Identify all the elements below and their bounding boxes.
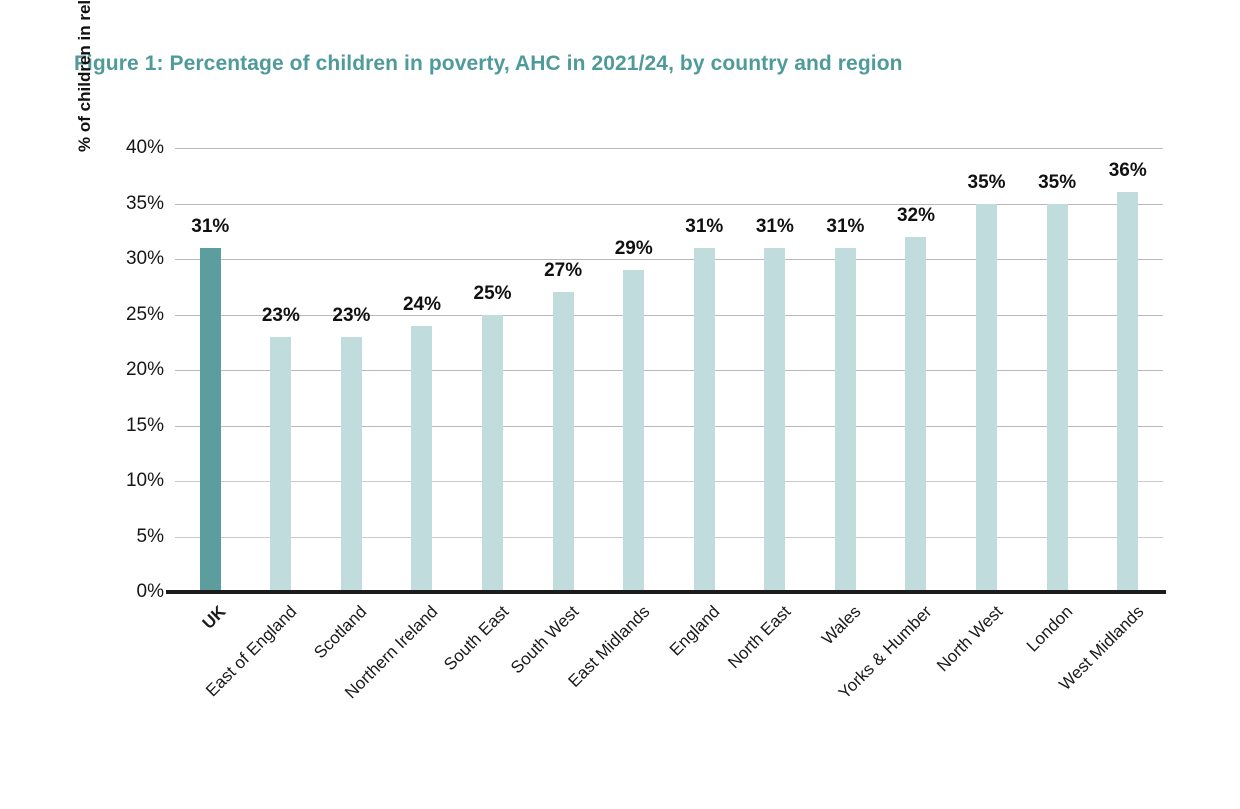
x-axis-tick-label-slot: East of England xyxy=(246,596,317,756)
y-axis-tick-label: 0% xyxy=(104,582,164,601)
y-axis-tick-labels: 40%35%30%25%20%15%10%5%0% xyxy=(66,0,164,809)
chart-title: Figure 1: Percentage of children in pove… xyxy=(74,52,903,76)
x-axis-tick-labels: UKEast of EnglandScotlandNorthern Irelan… xyxy=(175,596,1163,756)
bar-value-label: 23% xyxy=(316,305,387,327)
bar-item[interactable]: 24% xyxy=(387,148,458,592)
x-axis-tick-label-slot: West Midlands xyxy=(1092,596,1163,756)
bar[interactable] xyxy=(411,326,432,592)
bar-item[interactable]: 35% xyxy=(1022,148,1093,592)
bar-item[interactable]: 31% xyxy=(669,148,740,592)
bar-value-label: 31% xyxy=(669,216,740,238)
bar-item[interactable]: 36% xyxy=(1092,148,1163,592)
bar[interactable] xyxy=(905,237,926,592)
bar-value-label: 35% xyxy=(951,172,1022,194)
bar-item[interactable]: 31% xyxy=(810,148,881,592)
bar-item[interactable]: 27% xyxy=(528,148,599,592)
x-axis-tick-label-slot: North West xyxy=(951,596,1022,756)
x-axis-tick-label-slot: England xyxy=(669,596,740,756)
x-axis-tick-label: England xyxy=(666,602,724,660)
bar-item[interactable]: 31% xyxy=(175,148,246,592)
y-axis-tick-label: 25% xyxy=(104,305,164,324)
bar[interactable] xyxy=(1117,192,1138,592)
x-axis-tick-label: Scotland xyxy=(311,602,372,663)
x-axis-tick-label-slot: Northern Ireland xyxy=(387,596,458,756)
bar-value-label: 27% xyxy=(528,260,599,282)
bar-value-label: 35% xyxy=(1022,172,1093,194)
bar[interactable] xyxy=(270,337,291,592)
x-axis-tick-label-slot: Yorks & Humber xyxy=(881,596,952,756)
figure-container: Figure 1: Percentage of children in pove… xyxy=(0,0,1240,809)
bar[interactable] xyxy=(1047,204,1068,593)
bar-item[interactable]: 32% xyxy=(881,148,952,592)
x-axis-tick-label: Wales xyxy=(818,602,865,649)
y-axis-tick-label: 20% xyxy=(104,360,164,379)
bar-item[interactable]: 29% xyxy=(598,148,669,592)
x-axis-tick-label-slot: North East xyxy=(740,596,811,756)
bar-value-label: 31% xyxy=(175,216,246,238)
x-axis-tick-label: London xyxy=(1023,602,1077,656)
y-axis-tick-label: 10% xyxy=(104,471,164,490)
bar-item[interactable]: 23% xyxy=(246,148,317,592)
bar-value-label: 29% xyxy=(598,238,669,260)
bar-item[interactable]: 31% xyxy=(740,148,811,592)
bar-value-label: 25% xyxy=(457,283,528,305)
bar-value-label: 24% xyxy=(387,294,458,316)
bar[interactable] xyxy=(764,248,785,592)
bar-value-label: 32% xyxy=(881,205,952,227)
y-axis-tick-label: 30% xyxy=(104,249,164,268)
bar-value-label: 31% xyxy=(810,216,881,238)
bar[interactable] xyxy=(835,248,856,592)
y-axis-tick-label: 35% xyxy=(104,194,164,213)
y-axis-tick-label: 15% xyxy=(104,416,164,435)
x-axis-tick-label: UK xyxy=(199,602,231,634)
bar-value-label: 31% xyxy=(740,216,811,238)
bar-value-label: 23% xyxy=(246,305,317,327)
x-axis-tick-label-slot: South East xyxy=(457,596,528,756)
y-axis-tick-label: 5% xyxy=(104,527,164,546)
x-axis-tick-label-slot: East Midlands xyxy=(598,596,669,756)
bar[interactable] xyxy=(200,248,221,592)
bar-value-label: 36% xyxy=(1092,160,1163,182)
y-axis-tick-label: 40% xyxy=(104,138,164,157)
